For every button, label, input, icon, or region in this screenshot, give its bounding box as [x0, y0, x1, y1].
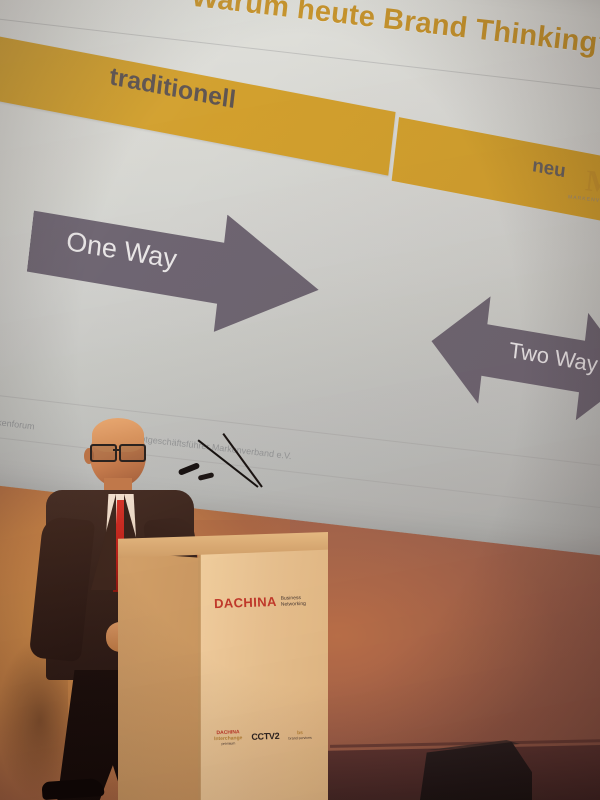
lectern-corner-edge — [198, 546, 201, 800]
sponsor3-line2: brand services — [288, 736, 312, 741]
lectern-side-panel — [118, 552, 202, 800]
sponsor2-line1: CCTV — [251, 731, 275, 742]
lectern: DACHINA Business Networking DACHINA Inte… — [118, 532, 328, 800]
dachina-logo-tagline: Business Networking — [280, 593, 306, 608]
dachina-tagline-line2: Networking — [281, 601, 306, 608]
sponsor2-line2: 2 — [274, 731, 279, 741]
conference-photo: Warum heute Brand Thinking? traditionell… — [0, 0, 600, 800]
sponsor-logo-cctv: CCTV2 — [251, 731, 279, 742]
sponsor-logo-dachina-interchange: DACHINA Interchange premium — [214, 729, 243, 746]
dachina-logo-wordmark: DACHINA — [214, 594, 277, 611]
sponsor-logo-bs: bs brand services — [288, 730, 312, 741]
eyeglasses-icon — [90, 444, 146, 459]
eyeglass-lens-right — [119, 444, 146, 462]
eyeglass-bridge — [113, 449, 119, 451]
lectern-front-panel — [200, 544, 328, 800]
eyeglass-lens-left — [90, 444, 117, 462]
